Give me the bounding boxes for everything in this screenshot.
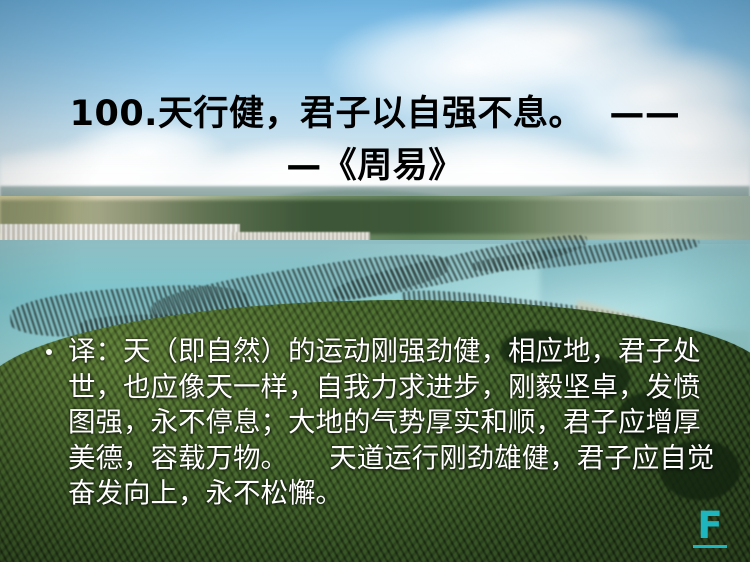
bullet-point-icon	[46, 349, 52, 355]
body-paragraph: 译：天（即自然）的运动刚强劲健，相应地，君子处世，也应像天一样，自我力求进步，刚…	[68, 333, 716, 511]
presentation-slide: 100.天行健，君子以自强不息。 —— —《周易》 译：天（即自然）的运动刚强劲…	[0, 0, 750, 562]
slide-title: 100.天行健，君子以自强不息。 —— —《周易》	[0, 88, 750, 192]
slide-body: 译：天（即自然）的运动刚强劲健，相应地，君子处世，也应像天一样，自我力求进步，刚…	[40, 333, 716, 511]
title-line-2: —《周易》	[0, 140, 750, 192]
watermark-logo: F	[688, 509, 732, 548]
logo-letter-f: F	[688, 509, 732, 543]
title-line-1: 100.天行健，君子以自强不息。 ——	[0, 88, 750, 140]
